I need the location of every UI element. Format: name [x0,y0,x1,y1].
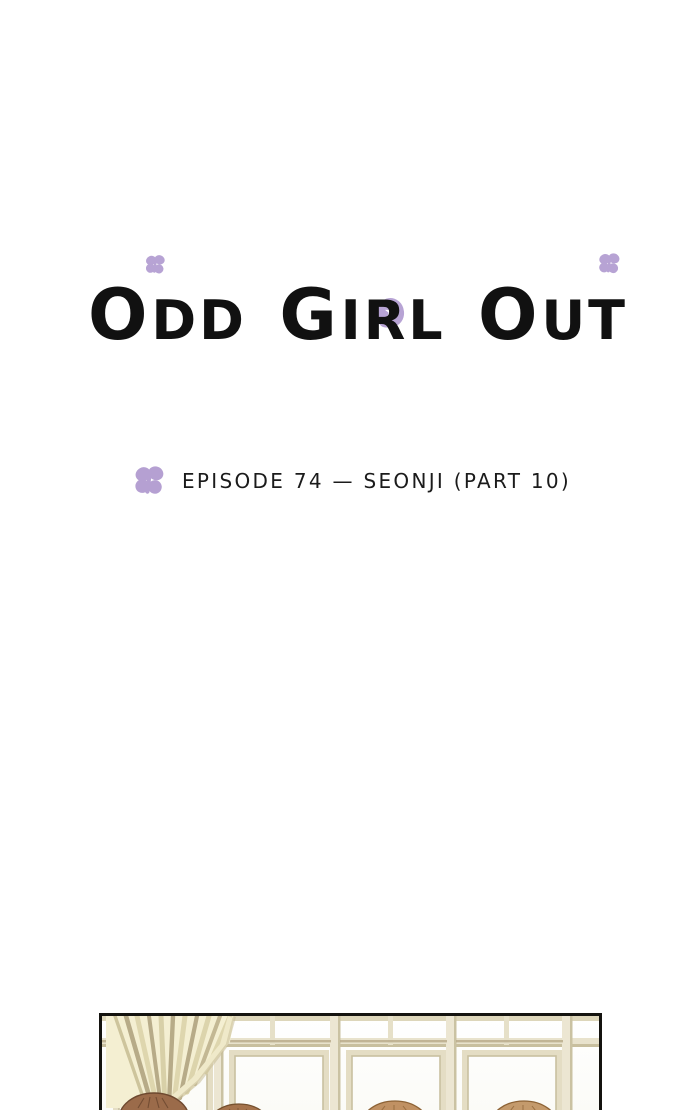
title-letter-i: I [341,294,364,348]
title-letter-r-group: R [364,294,409,348]
title-row: ODD GIRL OUT [88,248,628,348]
clover-icon-title-left [142,252,168,278]
title-word-girl: GIRL [279,278,445,348]
episode-subtitle-text: EPISODE 74 — SEONJI (PART 10) [182,469,571,493]
comic-panel-classroom [99,1013,602,1110]
title-letter-l: L [408,294,445,348]
title-letter-g: G [279,280,340,350]
clover-icon-subtitle [132,463,166,499]
title-letters-ut: UT [541,294,628,348]
title-word-out: OUT [478,278,628,348]
clover-icon-title-right [595,250,623,278]
title-word-odd: ODD [88,278,247,348]
classroom-illustration [102,1016,599,1110]
title-letter-o-2: O [478,280,541,350]
title-letter-o-1: O [88,280,151,350]
comic-panel-art [102,1016,599,1110]
title-letter-r: R [364,294,409,348]
webtoon-page: ODD GIRL OUT [0,0,700,1110]
title-letters-dd: DD [151,294,247,348]
episode-subtitle: EPISODE 74 — SEONJI (PART 10) [132,458,571,504]
